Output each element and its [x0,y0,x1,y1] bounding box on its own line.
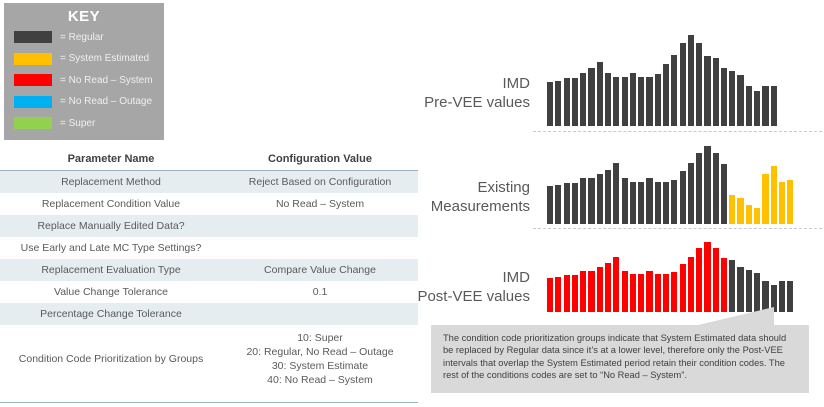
bar [737,75,743,126]
cell-configuration-value [222,237,418,259]
bar [630,182,636,224]
bar-chart-pre-vee [547,22,822,126]
bar [771,166,777,224]
table-row: Replacement Condition ValueNo Read – Sys… [0,193,418,215]
key-row-4: = Super [14,114,164,133]
table-bottom-rule [0,402,418,403]
key-legend-panel: KEY = Regular= System Estimated= No Read… [4,3,164,140]
bar [605,263,611,312]
cell-configuration-value: 0.1 [222,281,418,303]
bar [680,43,686,126]
bar [696,153,702,224]
chart-divider-2 [533,228,822,229]
column-header-parameter-name: Parameter Name [0,148,222,171]
cell-parameter-name: Percentage Change Tolerance [0,303,222,325]
cell-parameter-name: Condition Code Prioritization by Groups [0,325,222,393]
bar [696,43,702,126]
bar [646,178,652,224]
key-label-0: = Regular [60,32,104,43]
bar [746,270,752,312]
key-row-2: = No Read – System [14,71,164,90]
bar [787,281,793,312]
bar [638,274,644,312]
cell-parameter-name: Replace Manually Edited Data? [0,215,222,237]
key-label-2: = No Read – System [60,75,153,86]
table-row: Value Change Tolerance0.1 [0,281,418,303]
bar [555,185,561,224]
bar-chart-existing-measurements [547,135,822,224]
bar [704,242,710,312]
bar [555,277,561,312]
chart-label-post-vee-line1: IMD [415,268,530,287]
bar [564,183,570,224]
table-header-row: Parameter Name Configuration Value [0,148,418,171]
bar [729,260,735,312]
bar [746,86,752,126]
callout-pointer [690,307,774,327]
cell-configuration-value [222,215,418,237]
table-row: Percentage Change Tolerance [0,303,418,325]
bar [646,77,652,126]
bar [680,171,686,224]
bar [580,73,586,126]
bar [713,58,719,126]
bar [737,267,743,312]
cell-configuration-value: Reject Based on Configuration [222,171,418,193]
chart-label-existing: Existing Measurements [415,178,530,216]
key-row-1: = System Estimated [14,49,164,68]
chart-label-post-vee: IMD Post-VEE values [415,268,530,306]
chart-label-pre-vee-line2: Pre-VEE values [420,93,530,112]
table-row: Replacement Evaluation TypeCompare Value… [0,259,418,281]
chart-label-pre-vee: IMD Pre-VEE values [420,74,530,112]
bar [779,281,785,312]
bar [713,153,719,224]
bar [572,275,578,312]
bar [555,81,561,127]
key-row-3: = No Read – Outage [14,92,164,111]
bar [762,86,768,126]
cell-parameter-name: Replacement Method [0,171,222,193]
bar [671,180,677,225]
key-label-3: = No Read – Outage [60,96,152,107]
bar [671,272,677,312]
bar [597,267,603,312]
cell-configuration-value [222,303,418,325]
bar [696,248,702,312]
bar [588,178,594,224]
bar [655,74,661,126]
bar [588,271,594,312]
bar [729,71,735,126]
bar [613,163,619,224]
bar [572,183,578,224]
bar [704,146,710,224]
bar [754,91,760,126]
bar [663,64,669,126]
table-row: Use Early and Late MC Type Settings? [0,237,418,259]
cell-configuration-value: 10: Super 20: Regular, No Read – Outage … [222,325,418,393]
bar [613,257,619,312]
key-label-1: = System Estimated [60,53,149,64]
bar [655,274,661,312]
bar [721,164,727,224]
bar [779,182,785,224]
bar [638,182,644,224]
bar [597,62,603,126]
bar [597,174,603,224]
bar [638,77,644,126]
bar-chart-post-vee [547,232,822,312]
bar [605,73,611,126]
key-swatch-4 [14,117,52,129]
key-swatch-2 [14,74,52,86]
bar [605,170,611,225]
bar [762,174,768,224]
bar [671,55,677,127]
chart-divider-1 [533,131,822,132]
bar [680,264,686,312]
table-row: Condition Code Prioritization by Groups1… [0,325,418,393]
bar [630,73,636,126]
bar [547,278,553,312]
key-swatch-3 [14,96,52,108]
bar [771,86,777,126]
bar [580,178,586,224]
cell-parameter-name: Replacement Condition Value [0,193,222,215]
cell-configuration-value: No Read – System [222,193,418,215]
chart-label-pre-vee-line1: IMD [420,74,530,93]
bar [622,77,628,126]
callout-box: The condition code prioritization groups… [431,325,809,393]
key-rows: = Regular= System Estimated= No Read – S… [4,28,164,133]
parameter-configuration-table: Parameter Name Configuration Value Repla… [0,148,418,393]
bar [737,198,743,224]
bar [547,186,553,224]
column-header-configuration-value: Configuration Value [222,148,418,171]
bar [663,182,669,224]
bar [663,274,669,312]
bar [613,77,619,126]
key-label-4: = Super [60,118,95,129]
bar [688,163,694,224]
chart-label-post-vee-line2: Post-VEE values [415,287,530,306]
bar [688,257,694,312]
bar [622,178,628,224]
bar [564,275,570,312]
cell-parameter-name: Value Change Tolerance [0,281,222,303]
bar [713,248,719,312]
bar [729,195,735,224]
bar [754,208,760,224]
bar [688,35,694,126]
chart-label-existing-line2: Measurements [415,197,530,216]
cell-configuration-value: Compare Value Change [222,259,418,281]
bar [721,258,727,312]
bar [721,68,727,127]
cell-parameter-name: Replacement Evaluation Type [0,259,222,281]
bar [655,182,661,224]
bar [547,82,553,126]
table-head: Parameter Name Configuration Value [0,148,418,171]
bar [646,271,652,312]
table-row: Replacement MethodReject Based on Config… [0,171,418,193]
callout-text: The condition code prioritization groups… [431,325,809,382]
key-swatch-0 [14,31,52,43]
bar [630,274,636,312]
bar [704,56,710,126]
bar [564,78,570,126]
key-swatch-1 [14,53,52,65]
bar [580,271,586,312]
bar [588,68,594,127]
table-row: Replace Manually Edited Data? [0,215,418,237]
table-body: Replacement MethodReject Based on Config… [0,171,418,393]
chart-label-existing-line1: Existing [415,178,530,197]
cell-parameter-name: Use Early and Late MC Type Settings? [0,237,222,259]
key-title: KEY [4,3,164,25]
bar [622,271,628,312]
bar [787,180,793,225]
bar [572,78,578,126]
key-row-0: = Regular [14,28,164,47]
bar [746,205,752,224]
